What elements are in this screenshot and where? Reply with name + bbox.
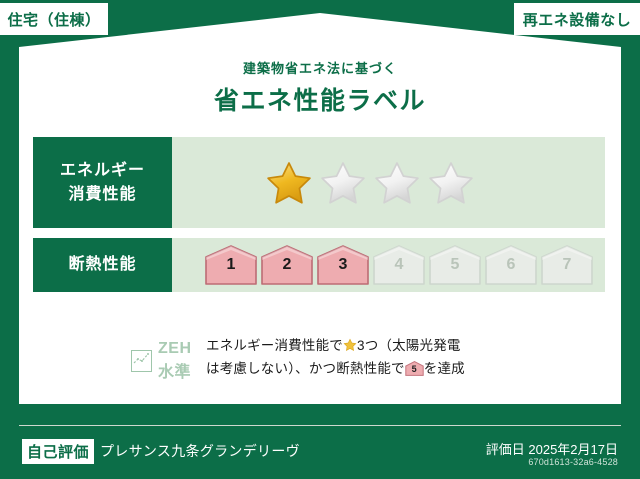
insulation-level-7: 7 — [540, 244, 594, 286]
insulation-level-6: 6 — [484, 244, 538, 286]
energy-performance-label-box: エネルギー 消費性能 — [33, 137, 172, 228]
house-rating-scale: 1234567 — [172, 244, 594, 286]
insulation-level-number: 2 — [260, 256, 314, 274]
zeh-desc-part2: 3つ（太陽光発電 — [357, 338, 461, 353]
insulation-level-4: 4 — [372, 244, 426, 286]
insulation-level-number: 1 — [204, 256, 258, 274]
star-empty-icon — [427, 160, 475, 206]
energy-label-line2: 消費性能 — [68, 183, 136, 206]
insulation-level-number: 3 — [316, 256, 370, 274]
zeh-label: ZEH水準 — [158, 340, 206, 382]
zeh-chart-icon — [131, 350, 152, 372]
evaluation-id: 670d1613-32a6-4528 — [528, 457, 618, 467]
star-icon — [343, 336, 357, 350]
page-title: 省エネ性能ラベル — [0, 81, 640, 117]
insulation-level-number: 6 — [484, 256, 538, 274]
zeh-desc-part4: を達成 — [424, 361, 465, 376]
zeh-description: エネルギー消費性能で 3つ（太陽光発電 は考慮しない）、かつ断熱性能で 5 を達… — [206, 334, 465, 380]
renewable-energy-tag: 再エネ設備なし — [514, 3, 640, 35]
energy-rating-area — [172, 137, 605, 228]
zeh-standard-note: ZEH水準 エネルギー消費性能で 3つ（太陽光発電 は考慮しない）、かつ断熱性能… — [33, 334, 605, 382]
self-evaluation-badge: 自己評価 — [22, 439, 94, 464]
star-empty-icon — [373, 160, 421, 206]
star-filled-icon — [265, 160, 313, 206]
insulation-level-5: 5 — [428, 244, 482, 286]
energy-performance-row: エネルギー 消費性能 — [33, 137, 605, 228]
zeh-badge: ZEH水準 — [33, 334, 206, 382]
insulation-label-line1: 断熱性能 — [68, 253, 136, 276]
house-level-icon: 5 — [405, 361, 424, 376]
insulation-performance-row: 断熱性能 1234567 — [33, 238, 605, 292]
house-level-number: 5 — [405, 362, 424, 377]
insulation-performance-label-box: 断熱性能 — [33, 238, 172, 292]
insulation-level-number: 7 — [540, 256, 594, 274]
title-subtitle: 建築物省エネ法に基づく — [0, 58, 640, 77]
building-name: プレサンス九条グランデリーヴ — [100, 441, 300, 461]
footer-divider — [19, 425, 621, 426]
insulation-rating-area: 1234567 — [172, 238, 605, 292]
star-empty-icon — [319, 160, 367, 206]
zeh-desc-part3: は考慮しない）、かつ断熱性能で — [206, 361, 405, 376]
star-rating — [172, 160, 475, 206]
building-type-tag: 住宅（住棟） — [0, 3, 108, 35]
insulation-level-2: 2 — [260, 244, 314, 286]
insulation-level-number: 5 — [428, 256, 482, 274]
insulation-level-number: 4 — [372, 256, 426, 274]
insulation-level-3: 3 — [316, 244, 370, 286]
insulation-level-1: 1 — [204, 244, 258, 286]
zeh-desc-part1: エネルギー消費性能で — [206, 338, 343, 353]
evaluation-date: 評価日 2025年2月17日 — [486, 439, 618, 458]
energy-performance-label: 住宅（住棟） 再エネ設備なし 建築物省エネ法に基づく 省エネ性能ラベル エネルギ… — [0, 0, 640, 479]
energy-label-line1: エネルギー — [60, 159, 145, 182]
footer: 自己評価 プレサンス九条グランデリーヴ 評価日 2025年2月17日 670d1… — [0, 432, 640, 479]
label-title-block: 建築物省エネ法に基づく 省エネ性能ラベル — [0, 58, 640, 117]
